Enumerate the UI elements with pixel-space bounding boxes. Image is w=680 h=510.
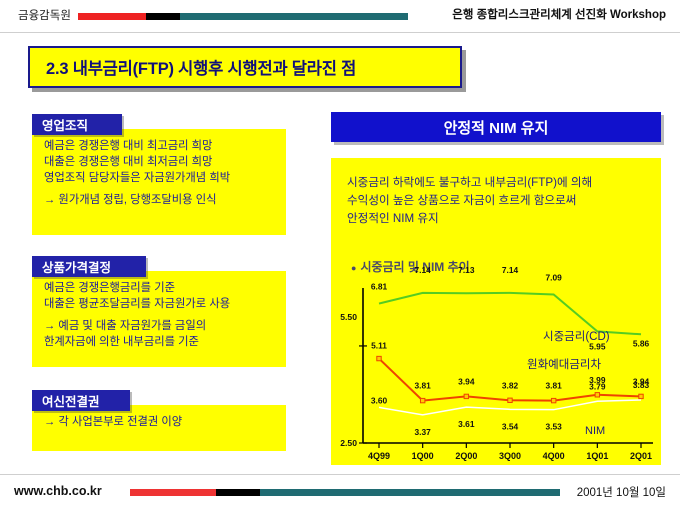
section-body-line: 한계자금에 의한 내부금리를 기준 xyxy=(44,334,276,350)
section-header-credit-authority: 여신전결권 xyxy=(32,390,130,411)
chart-data-label: 3.61 xyxy=(458,419,475,429)
chart-data-label: 7.14 xyxy=(415,265,432,275)
chart-x-tick-label: 4Q00 xyxy=(543,451,565,461)
section-body-line: → 각 사업본부로 전결권 이양 xyxy=(44,414,276,430)
y-tick-label-lower: 2.50 xyxy=(340,438,357,448)
chart-x-tick-label: 2Q01 xyxy=(630,451,652,461)
section-header-label: 상품가격결정 xyxy=(42,257,111,276)
right-panel-header: 안정적 NIM 유지 xyxy=(331,112,661,142)
chart-data-label: 3.81 xyxy=(546,381,563,391)
chart-data-label: 5.86 xyxy=(633,338,650,348)
section-body-line: → 예금 및 대출 자금원가를 금일의 xyxy=(44,318,276,334)
footer-divider xyxy=(0,474,680,475)
series-marker xyxy=(464,394,468,398)
series-marker xyxy=(595,393,599,397)
y-tick-label-upper: 5.50 xyxy=(340,312,357,322)
section-header-product-pricing: 상품가격결정 xyxy=(32,256,146,277)
chart-x-tick-label: 3Q00 xyxy=(499,451,521,461)
chart-data-label: 5.11 xyxy=(371,341,387,351)
chart-x-tick-label: 2Q00 xyxy=(455,451,477,461)
section-body-product-pricing: 예금은 경쟁은행금리를 기준 대출은 평균조달금리를 자금원가로 사용 → 예금… xyxy=(32,271,286,367)
interest-rate-nim-chart: 6.817.147.137.147.095.955.86 5.113.813.9… xyxy=(331,158,661,465)
chart-svg: 6.817.147.137.147.095.955.86 5.113.813.9… xyxy=(331,158,661,465)
chart-data-label: 7.13 xyxy=(458,265,475,275)
chart-data-label: 6.81 xyxy=(371,282,388,292)
header-bar-segment-black xyxy=(146,13,180,20)
chart-x-tick-label: 1Q01 xyxy=(586,451,608,461)
series-marker xyxy=(551,398,555,402)
slide-title-banner: 2.3 내부금리(FTP) 시행후 시행전과 달라진 점 xyxy=(28,46,462,88)
chart-data-label: 3.81 xyxy=(415,381,432,391)
section-header-label: 영업조직 xyxy=(42,115,88,134)
series-line-market-rate xyxy=(379,293,641,334)
header-bar-segment-teal xyxy=(180,13,408,20)
chart-x-tick-label: 4Q99 xyxy=(368,451,390,461)
series-marker xyxy=(639,394,643,398)
series-marker xyxy=(508,398,512,402)
page-title: 2.3 내부금리(FTP) 시행후 시행전과 달라진 점 xyxy=(30,55,356,79)
chart-data-label: 7.09 xyxy=(546,273,563,283)
series-annotation-rate-spread: 원화예대금리차 xyxy=(527,357,601,371)
section-header-sales-org: 영업조직 xyxy=(32,114,122,135)
footer-bar-segment-red xyxy=(130,489,216,496)
header-accent-bar xyxy=(78,13,408,20)
footer-bar-segment-black xyxy=(216,489,260,496)
header-workshop-title: 은행 종합리스크관리체계 선진화 Workshop xyxy=(452,6,666,22)
series-marker xyxy=(420,398,424,402)
series-annotation-nim: NIM xyxy=(585,425,605,437)
chart-data-label: 3.60 xyxy=(371,395,388,405)
section-body-credit-authority: → 각 사업본부로 전결권 이양 xyxy=(32,405,286,451)
header-bar-segment-red xyxy=(78,13,146,20)
section-body-line: 예금은 경쟁은행금리를 기준 xyxy=(44,280,276,296)
chart-data-label: 3.54 xyxy=(502,421,519,431)
section-body-line: 대출은 경쟁은행 대비 최저금리 희망 xyxy=(44,154,276,170)
header-divider xyxy=(0,32,680,33)
series-labels-rate-spread: 5.113.813.943.823.813.993.94 xyxy=(371,341,649,391)
chart-x-tick-label: 1Q00 xyxy=(412,451,434,461)
chart-data-label: 3.82 xyxy=(502,380,519,390)
footer-bar-segment-teal xyxy=(260,489,560,496)
section-body-line: → 원가개념 정립, 당행조달비용 인식 xyxy=(44,192,276,208)
section-header-label: 여신전결권 xyxy=(42,391,100,410)
chart-data-label: 3.37 xyxy=(415,427,432,437)
series-marker xyxy=(377,356,381,360)
section-body-sales-org: 예금은 경쟁은행 대비 최고금리 희망 대출은 경쟁은행 대비 최저금리 희망 … xyxy=(32,129,286,235)
chart-data-label: 3.94 xyxy=(458,376,475,386)
section-body-line: 영업조직 담당자들은 자금원가개념 희박 xyxy=(44,170,276,186)
slide-header: 금융감독원 은행 종합리스크관리체계 선진화 Workshop xyxy=(0,0,680,34)
chart-data-label: 3.83 xyxy=(633,380,650,390)
chart-x-tick-labels: 4Q991Q002Q003Q004Q001Q012Q01 xyxy=(368,451,652,461)
section-body-line: 예금은 경쟁은행 대비 최고금리 희망 xyxy=(44,138,276,154)
section-body-line: 대출은 평균조달금리를 자금원가로 사용 xyxy=(44,296,276,312)
footer-website-link[interactable]: www.chb.co.kr xyxy=(14,484,102,498)
chart-data-label: 3.79 xyxy=(589,381,606,391)
footer-date: 2001년 10월 10일 xyxy=(577,484,666,500)
series-annotation-market-rate: 시중금리(CD) xyxy=(543,330,610,343)
footer-accent-bar xyxy=(130,489,560,496)
header-organization-label: 금융감독원 xyxy=(18,7,71,23)
chart-data-label: 7.14 xyxy=(502,265,519,275)
chart-data-label: 3.53 xyxy=(546,422,563,432)
right-panel-title: 안정적 NIM 유지 xyxy=(444,117,549,138)
